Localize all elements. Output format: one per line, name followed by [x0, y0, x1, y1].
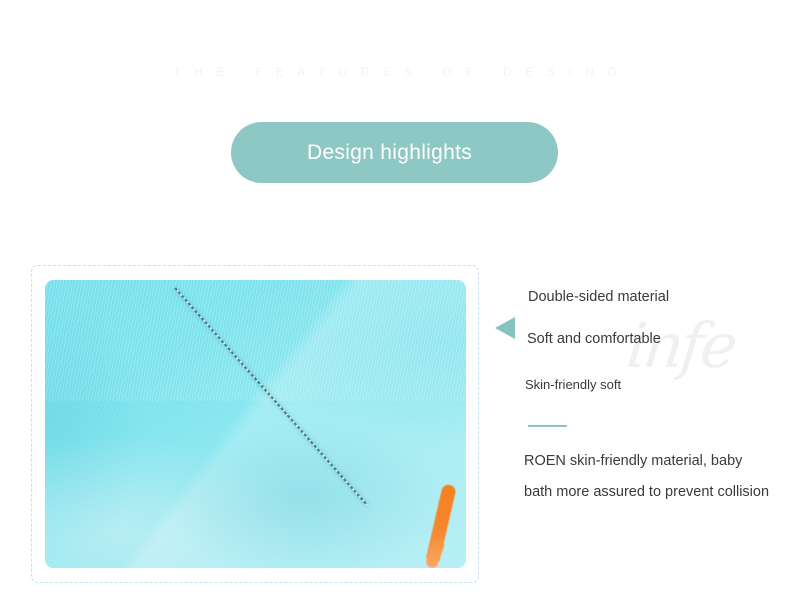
section-title-label: Design highlights — [307, 141, 472, 165]
section-title-pill: Design highlights — [231, 122, 558, 183]
section-divider — [528, 425, 567, 427]
feature-item-soft-and-comfortable: Soft and comfortable — [527, 331, 661, 347]
feature-column: infe Double-sided material Soft and comf… — [495, 265, 785, 585]
eyebrow-heading: THE FEATURES OF DESING — [0, 65, 790, 79]
description-line-1: ROEN skin-friendly material, baby — [524, 453, 742, 469]
feature-item-double-sided-material: Double-sided material — [528, 289, 669, 305]
product-photo — [45, 280, 466, 568]
left-triangle-icon — [495, 317, 515, 339]
feature-item-skin-friendly-soft: Skin-friendly soft — [525, 377, 621, 392]
fabric-shadow-layer — [45, 280, 466, 568]
description-line-2: bath more assured to prevent collision — [524, 484, 769, 500]
page-root: THE FEATURES OF DESING Design highlights… — [0, 0, 790, 605]
